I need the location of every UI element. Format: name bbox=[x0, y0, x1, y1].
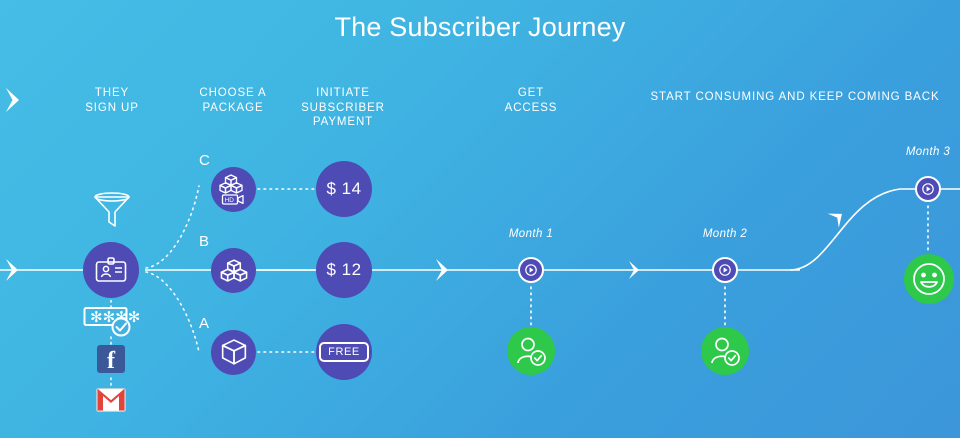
identity-node[interactable] bbox=[83, 242, 139, 298]
price-node-b[interactable]: $ 12 bbox=[316, 242, 372, 298]
price-label-b: $ 12 bbox=[326, 260, 361, 280]
boxes-icon bbox=[220, 259, 248, 283]
branch-curve-bottom bbox=[146, 272, 199, 352]
price-node-a[interactable]: FREE bbox=[316, 324, 372, 380]
outcome-node-2[interactable] bbox=[701, 327, 749, 375]
funnel-icon bbox=[92, 192, 132, 230]
package-node-c[interactable]: HD bbox=[211, 167, 256, 212]
play-icon bbox=[719, 264, 731, 276]
box-icon bbox=[221, 339, 247, 366]
journey-path-layer bbox=[0, 0, 960, 438]
month-node-3[interactable] bbox=[915, 176, 941, 202]
gmail-icon[interactable] bbox=[96, 388, 126, 412]
play-icon bbox=[922, 183, 934, 195]
password-method[interactable]: ✻✻✻✻ bbox=[83, 306, 139, 338]
price-node-c[interactable]: $ 14 bbox=[316, 161, 372, 217]
facebook-icon[interactable]: f bbox=[97, 345, 125, 373]
stage-label-consuming: START CONSUMING AND KEEP COMING BACK bbox=[625, 90, 960, 105]
boxes-hd-icon: HD bbox=[219, 174, 249, 205]
package-letter-b: B bbox=[199, 233, 209, 250]
package-letter-a: A bbox=[199, 315, 209, 332]
user-check-icon bbox=[709, 336, 741, 366]
smiley-icon bbox=[912, 262, 946, 296]
stage-label-payment: INITIATE SUBSCRIBER PAYMENT bbox=[278, 86, 408, 130]
play-icon bbox=[525, 264, 537, 276]
package-letter-c: C bbox=[199, 152, 210, 169]
month-label-1: Month 1 bbox=[481, 228, 581, 240]
stage-label-access: GET ACCESS bbox=[466, 86, 596, 115]
header-arrow bbox=[6, 88, 19, 112]
month-node-1[interactable] bbox=[518, 257, 544, 283]
facebook-glyph: f bbox=[107, 349, 115, 373]
package-node-b[interactable] bbox=[211, 248, 256, 293]
stage-label-sign-up: THEY SIGN UP bbox=[47, 86, 177, 115]
outcome-node-1[interactable] bbox=[507, 327, 555, 375]
month-label-3: Month 3 bbox=[878, 146, 960, 158]
svg-text:HD: HD bbox=[224, 197, 234, 204]
password-icon: ✻✻✻✻ bbox=[83, 306, 139, 338]
outcome-node-3[interactable] bbox=[904, 254, 954, 304]
package-node-a[interactable] bbox=[211, 330, 256, 375]
branch-curve-top bbox=[146, 186, 199, 268]
id-card-icon bbox=[95, 257, 127, 283]
user-check-icon bbox=[515, 336, 547, 366]
timeline-arrow-rise bbox=[828, 207, 848, 228]
infographic-canvas: The Subscriber Journey THEY SIGN UP CHOO… bbox=[0, 0, 960, 438]
page-title: The Subscriber Journey bbox=[0, 12, 960, 43]
price-label-c: $ 14 bbox=[326, 179, 361, 199]
price-label-a: FREE bbox=[319, 342, 369, 362]
month-label-2: Month 2 bbox=[675, 228, 775, 240]
month-node-2[interactable] bbox=[712, 257, 738, 283]
